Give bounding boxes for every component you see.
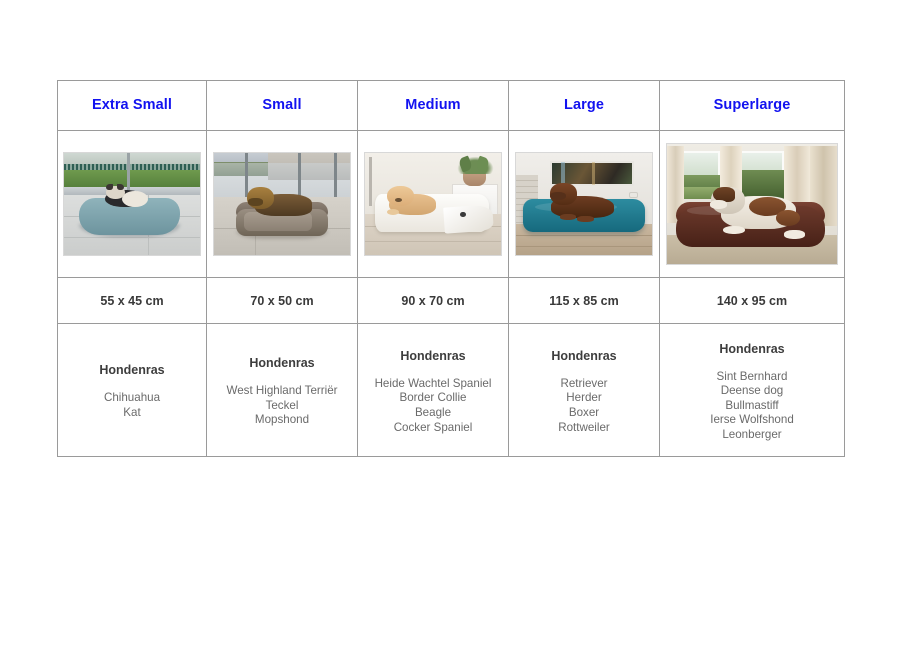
- dimensions-medium: 90 x 70 cm: [358, 294, 508, 308]
- photo-wrap-large: [509, 131, 659, 277]
- photo-wrap-superlarge: [660, 131, 844, 277]
- size-name-large: Large: [509, 98, 659, 113]
- breed-item: Deense dog: [666, 384, 838, 399]
- breed-item: Kat: [64, 406, 200, 421]
- header-cell-small: Small: [207, 81, 358, 131]
- breed-item: Border Collie: [364, 391, 502, 406]
- breed-title-small: Hondenras: [213, 356, 351, 370]
- dimensions-cell-superlarge: 140 x 95 cm: [660, 278, 845, 324]
- size-name-small: Small: [207, 98, 357, 113]
- header-cell-extra-small: Extra Small: [58, 81, 207, 131]
- photo-wrap-medium: [358, 131, 508, 277]
- table-breed-row: Hondenras Chihuahua Kat Hondenras West H…: [58, 324, 845, 457]
- breed-title-extra-small: Hondenras: [64, 363, 200, 377]
- breed-title-superlarge: Hondenras: [666, 342, 838, 356]
- breed-item: Heide Wachtel Spaniel: [364, 377, 502, 392]
- breed-list-large: Retriever Herder Boxer Rottweiler: [515, 377, 653, 435]
- photo-cell-medium: [358, 131, 509, 278]
- dimensions-cell-extra-small: 55 x 45 cm: [58, 278, 207, 324]
- breed-cell-superlarge: Hondenras Sint Bernhard Deense dog Bullm…: [660, 324, 845, 457]
- breed-cell-large: Hondenras Retriever Herder Boxer Rottwei…: [509, 324, 660, 457]
- breed-item: Bullmastiff: [666, 399, 838, 414]
- breed-cell-medium: Hondenras Heide Wachtel Spaniel Border C…: [358, 324, 509, 457]
- breed-item: Mopshond: [213, 413, 351, 428]
- page-canvas: Extra Small Small Medium Large Superlarg…: [0, 0, 900, 660]
- photo-wrap-extra-small: [58, 131, 206, 277]
- table-photo-row: [58, 131, 845, 278]
- dimensions-cell-medium: 90 x 70 cm: [358, 278, 509, 324]
- breed-list-extra-small: Chihuahua Kat: [64, 391, 200, 420]
- dog-bed-size-table: Extra Small Small Medium Large Superlarg…: [57, 80, 845, 457]
- breed-list-small: West Highland Terriër Teckel Mopshond: [213, 384, 351, 428]
- breed-item: Rottweiler: [515, 421, 653, 436]
- breed-title-medium: Hondenras: [364, 349, 502, 363]
- dimensions-extra-small: 55 x 45 cm: [58, 294, 206, 308]
- header-cell-medium: Medium: [358, 81, 509, 131]
- breed-item: West Highland Terriër: [213, 384, 351, 399]
- breed-title-large: Hondenras: [515, 349, 653, 363]
- photo-superlarge-saint-bernard-on-leather-bed: [666, 143, 838, 265]
- size-name-medium: Medium: [358, 98, 508, 113]
- photo-extra-small-cat-on-teal-bed: [63, 152, 201, 256]
- breed-item: Ierse Wolfshond: [666, 413, 838, 428]
- breed-item: Teckel: [213, 399, 351, 414]
- photo-small-terrier-on-brown-bed: [213, 152, 351, 256]
- photo-wrap-small: [207, 131, 357, 277]
- breed-item: Beagle: [364, 406, 502, 421]
- table-dimensions-row: 55 x 45 cm 70 x 50 cm 90 x 70 cm 115 x 8…: [58, 278, 845, 324]
- breed-item: Sint Bernhard: [666, 370, 838, 385]
- breed-item: Leonberger: [666, 428, 838, 443]
- header-cell-large: Large: [509, 81, 660, 131]
- dimensions-small: 70 x 50 cm: [207, 294, 357, 308]
- breed-item: Chihuahua: [64, 391, 200, 406]
- dimensions-cell-large: 115 x 85 cm: [509, 278, 660, 324]
- photo-large-labrador-on-teal-bed: [515, 152, 653, 256]
- breed-list-superlarge: Sint Bernhard Deense dog Bullmastiff Ier…: [666, 370, 838, 443]
- dimensions-large: 115 x 85 cm: [509, 294, 659, 308]
- breed-item: Boxer: [515, 406, 653, 421]
- photo-cell-small: [207, 131, 358, 278]
- photo-cell-superlarge: [660, 131, 845, 278]
- size-name-extra-small: Extra Small: [58, 98, 206, 113]
- breed-cell-extra-small: Hondenras Chihuahua Kat: [58, 324, 207, 457]
- photo-cell-large: [509, 131, 660, 278]
- header-cell-superlarge: Superlarge: [660, 81, 845, 131]
- dimensions-cell-small: 70 x 50 cm: [207, 278, 358, 324]
- size-name-superlarge: Superlarge: [660, 98, 844, 113]
- table-header-row: Extra Small Small Medium Large Superlarg…: [58, 81, 845, 131]
- breed-item: Cocker Spaniel: [364, 421, 502, 436]
- dimensions-superlarge: 140 x 95 cm: [660, 294, 844, 308]
- photo-cell-extra-small: [58, 131, 207, 278]
- breed-list-medium: Heide Wachtel Spaniel Border Collie Beag…: [364, 377, 502, 435]
- breed-item: Herder: [515, 391, 653, 406]
- photo-medium-cockapoo-on-cream-bed: [364, 152, 502, 256]
- breed-cell-small: Hondenras West Highland Terriër Teckel M…: [207, 324, 358, 457]
- breed-item: Retriever: [515, 377, 653, 392]
